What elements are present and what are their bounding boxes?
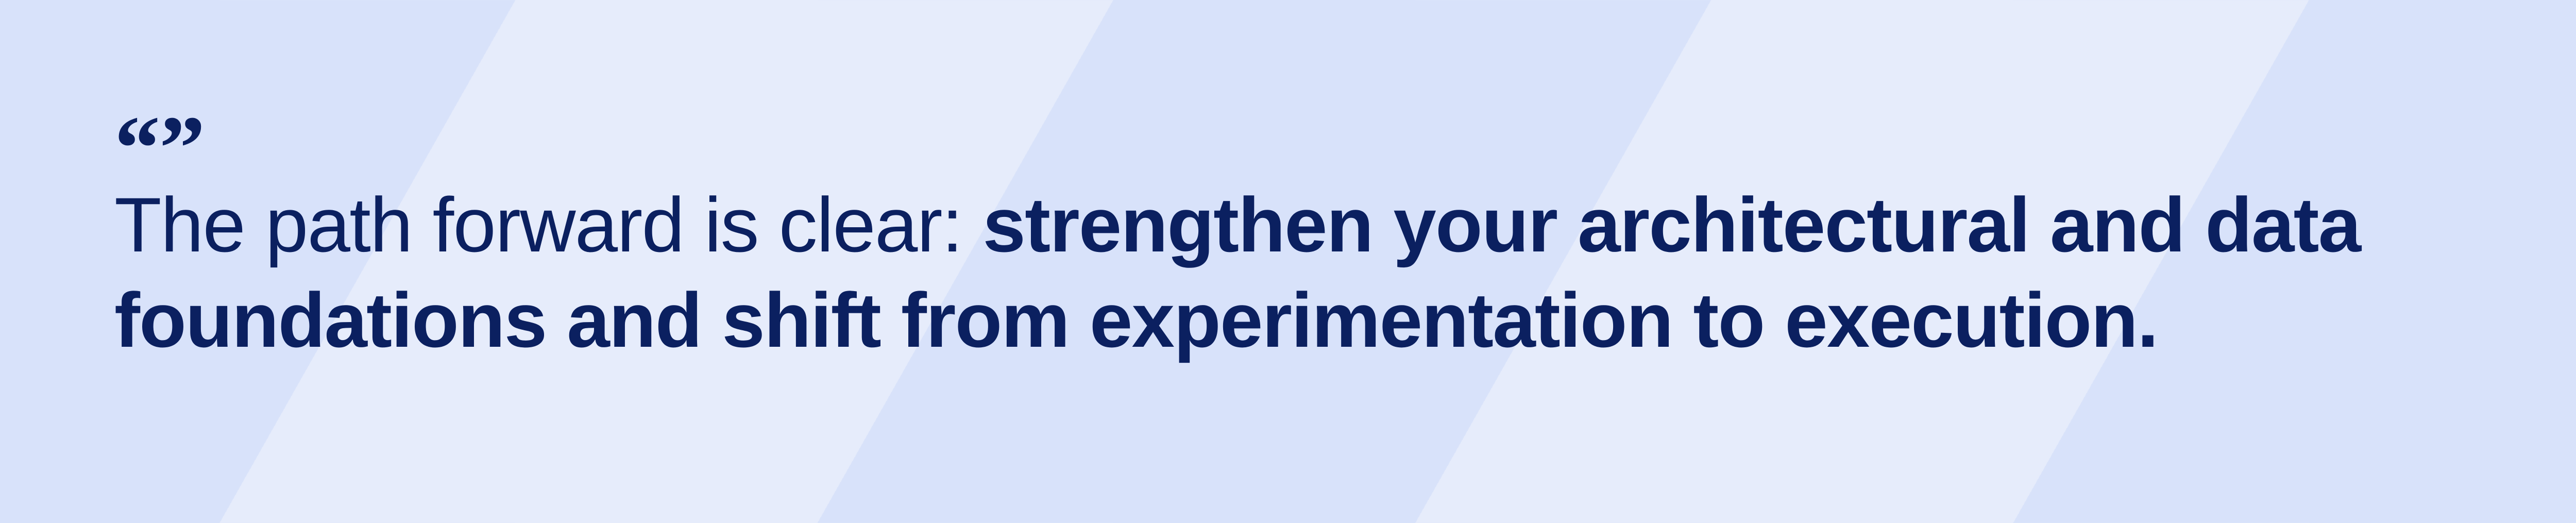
- pull-quote-banner: “” The path forward is clear: strengthen…: [0, 0, 2576, 523]
- quote-content-block: “” The path forward is clear: strengthen…: [114, 120, 2505, 368]
- quote-text: The path forward is clear: strengthen yo…: [114, 177, 2484, 368]
- quote-lead-text: The path forward is clear:: [114, 181, 982, 268]
- quotation-mark-icon: “”: [114, 120, 2505, 177]
